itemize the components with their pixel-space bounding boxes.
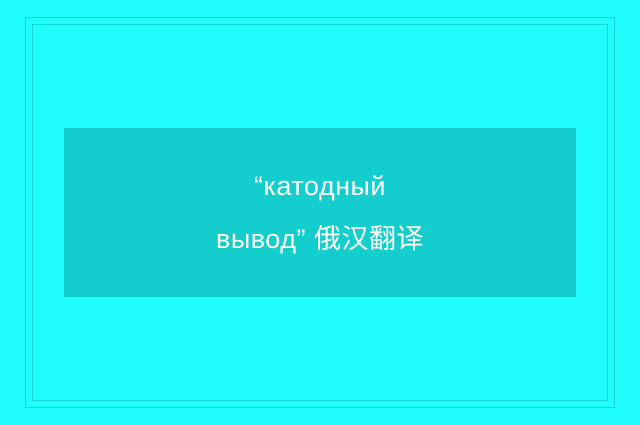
banner-title-text: “катодный вывод” 俄汉翻译 — [192, 160, 448, 265]
image-card: “катодный вывод” 俄汉翻译 — [0, 0, 640, 425]
title-banner: “катодный вывод” 俄汉翻译 — [64, 128, 576, 297]
